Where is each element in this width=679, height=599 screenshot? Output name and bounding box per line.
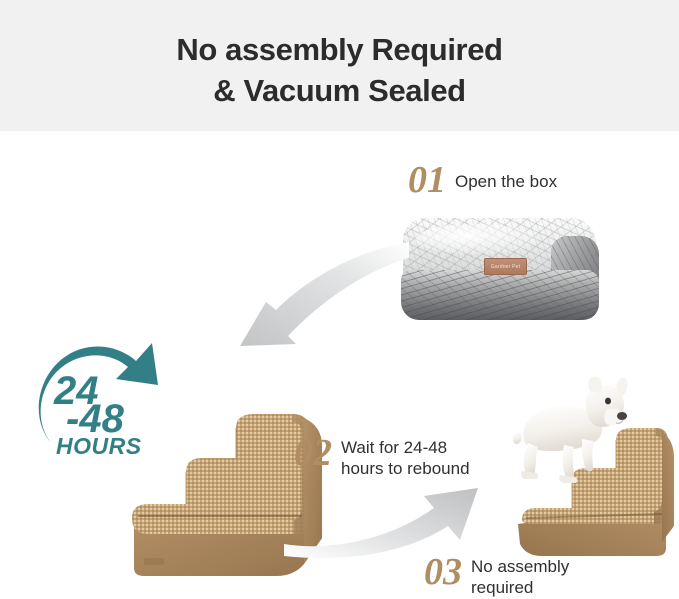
step-03-text: No assembly required: [471, 553, 569, 598]
step-03-line-2: required: [471, 577, 569, 598]
page-title: No assembly Required & Vacuum Sealed: [0, 29, 679, 111]
step-02: 02 Wait for 24-48 hours to rebound: [294, 434, 470, 479]
step-03: 03 No assembly required: [424, 553, 569, 598]
step-02-number: 02: [294, 434, 332, 472]
step-01: 01 Open the box: [408, 161, 557, 199]
step-02-line-2: hours to rebound: [341, 458, 470, 479]
curved-arrow-right-icon: [282, 482, 492, 560]
step-01-line-1: Open the box: [455, 171, 557, 192]
step-01-text: Open the box: [455, 161, 557, 192]
step-02-text: Wait for 24-48 hours to rebound: [341, 434, 470, 479]
package-front-face: [401, 270, 599, 320]
package-brand-label: Gardner Pet: [484, 258, 527, 275]
infographic-page: No assembly Required & Vacuum Sealed 01 …: [0, 0, 679, 599]
package-brand-label-text: Gardner Pet: [491, 264, 520, 270]
vacuum-sealed-package: Gardner Pet: [399, 218, 602, 322]
curved-arrow-down-left-icon: [178, 240, 410, 350]
step-01-number: 01: [408, 161, 446, 199]
step-03-line-1: No assembly: [471, 556, 569, 577]
title-line-1: No assembly Required: [0, 29, 679, 70]
title-line-2: & Vacuum Sealed: [0, 70, 679, 111]
step-03-number: 03: [424, 553, 462, 591]
french-bulldog: [508, 375, 628, 495]
step-02-line-1: Wait for 24-48: [341, 437, 470, 458]
package-highlight: [415, 224, 537, 254]
